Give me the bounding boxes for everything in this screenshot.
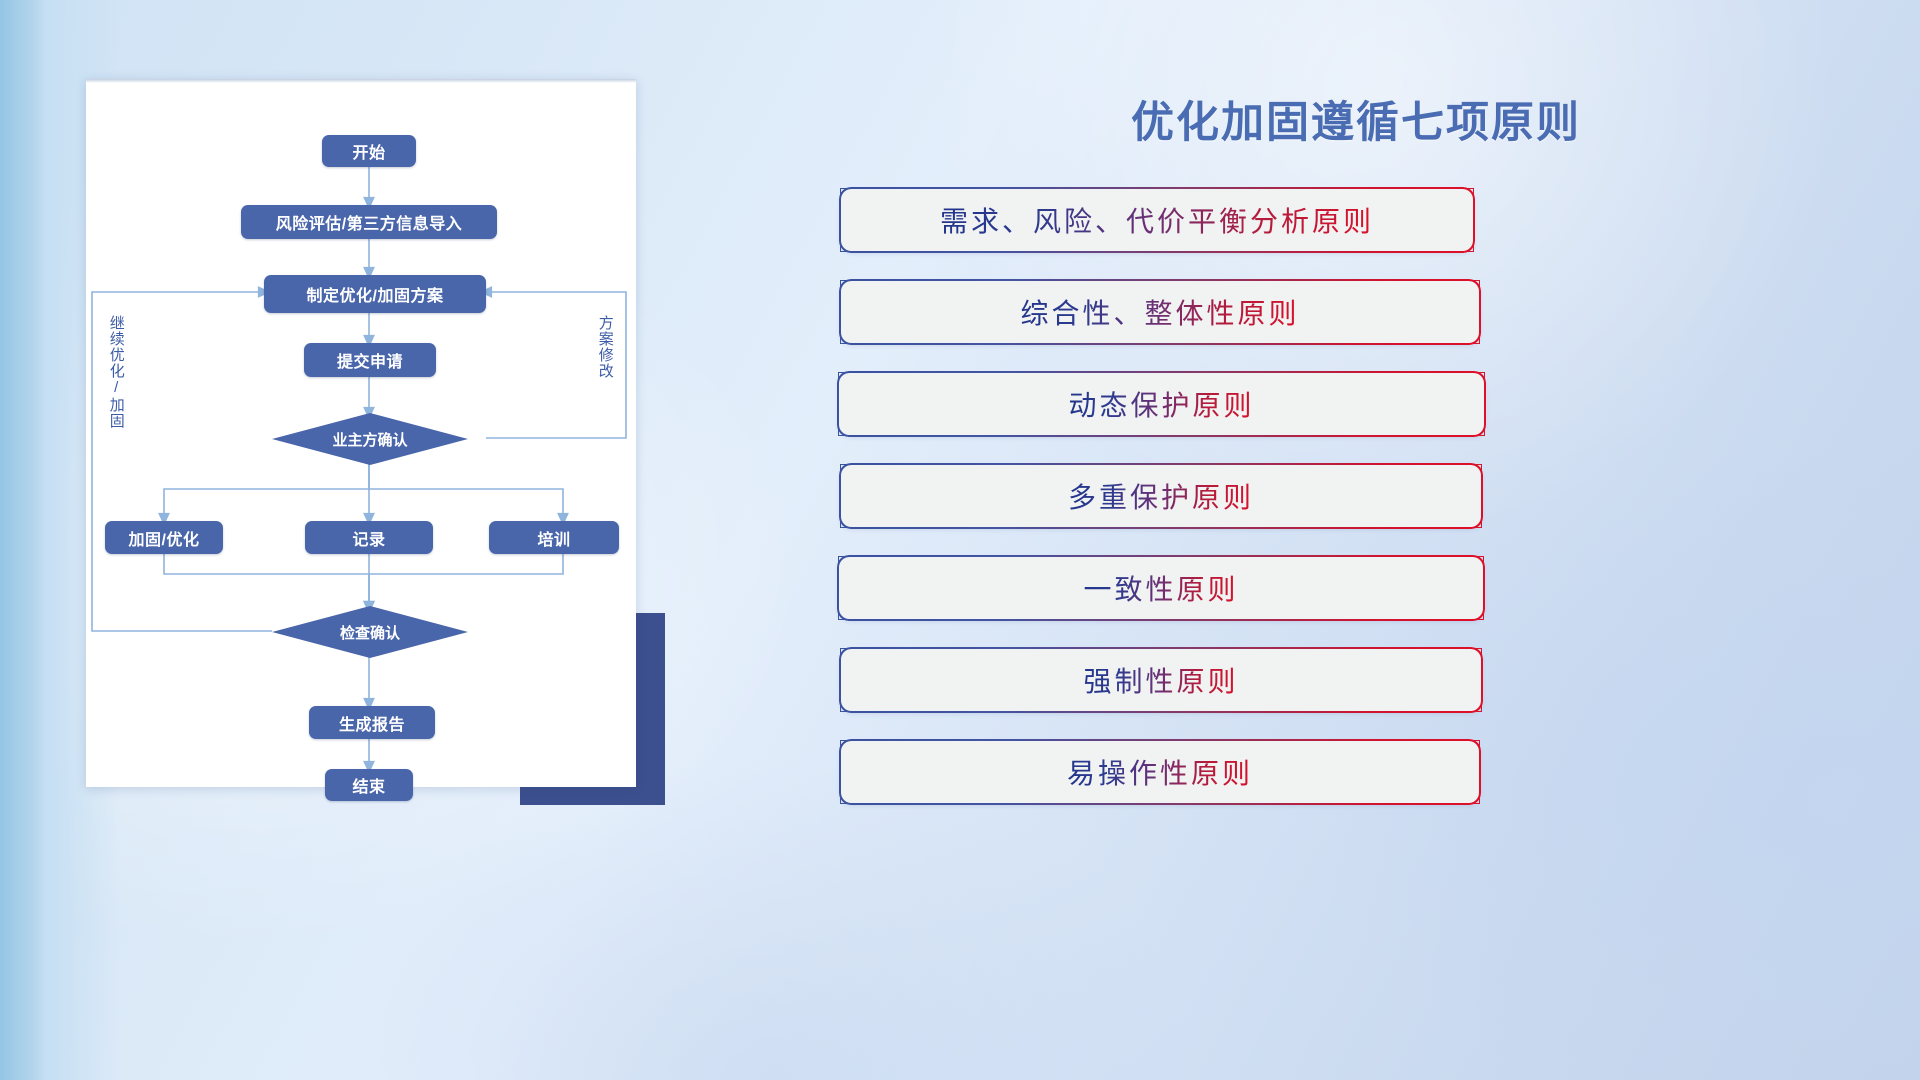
page-title: 优化加固遵循七项原则 <box>836 88 1876 150</box>
flow-node-label: 开始 <box>352 139 385 163</box>
principle-label: 综合性、整体性原则 <box>1020 292 1299 332</box>
flow-node-submit-application[interactable]: 提交申请 <box>304 343 436 377</box>
principle-label: 强制性原则 <box>1083 660 1238 700</box>
flow-node-label: 制定优化/加固方案 <box>307 282 444 306</box>
principle-item-6[interactable]: 强制性原则 <box>840 648 1482 712</box>
edge-label-plan-revision: 方案修改 <box>597 315 613 379</box>
flowchart: 开始 风险评估/第三方信息导入 制定优化/加固方案 提交申请 业主方确认 加固/… <box>86 79 636 787</box>
principle-label: 一致性原则 <box>1083 568 1238 608</box>
principle-item-5[interactable]: 一致性原则 <box>838 556 1484 620</box>
principle-label: 动态保护原则 <box>1068 384 1254 424</box>
flow-node-generate-report[interactable]: 生成报告 <box>309 706 435 739</box>
flow-node-make-plan[interactable]: 制定优化/加固方案 <box>264 275 486 313</box>
slide-background: 开始 风险评估/第三方信息导入 制定优化/加固方案 提交申请 业主方确认 加固/… <box>0 0 1920 1080</box>
principle-item-1[interactable]: 需求、风险、代价平衡分析原则 <box>840 188 1474 252</box>
flow-node-end[interactable]: 结束 <box>325 769 413 801</box>
flow-node-record[interactable]: 记录 <box>305 521 433 554</box>
principle-label: 需求、风险、代价平衡分析原则 <box>940 200 1374 240</box>
flow-node-label: 业主方确认 <box>332 429 407 450</box>
flowchart-card: 开始 风险评估/第三方信息导入 制定优化/加固方案 提交申请 业主方确认 加固/… <box>86 79 636 787</box>
principle-item-4[interactable]: 多重保护原则 <box>840 464 1482 528</box>
flow-node-label: 结束 <box>352 773 385 797</box>
flow-node-label: 检查确认 <box>340 622 400 643</box>
flow-node-label: 生成报告 <box>339 711 405 735</box>
principle-item-7[interactable]: 易操作性原则 <box>840 740 1480 804</box>
flow-node-training[interactable]: 培训 <box>489 521 619 554</box>
principles-list: 需求、风险、代价平衡分析原则 综合性、整体性原则 动态保护原则 多重保护原则 一… <box>836 188 1876 832</box>
flow-node-label: 风险评估/第三方信息导入 <box>276 210 462 234</box>
flow-node-label: 提交申请 <box>337 348 403 372</box>
flow-node-risk-assessment[interactable]: 风险评估/第三方信息导入 <box>241 205 497 239</box>
principle-label: 易操作性原则 <box>1067 752 1253 792</box>
principles-panel: 优化加固遵循七项原则 需求、风险、代价平衡分析原则 综合性、整体性原则 动态保护… <box>836 0 1876 1080</box>
flow-node-label: 加固/优化 <box>129 526 200 550</box>
flow-node-reinforce-optimize[interactable]: 加固/优化 <box>105 521 223 554</box>
flow-node-label: 记录 <box>352 526 385 550</box>
principle-label: 多重保护原则 <box>1068 476 1254 516</box>
principle-item-2[interactable]: 综合性、整体性原则 <box>840 280 1480 344</box>
flow-node-start[interactable]: 开始 <box>322 135 416 167</box>
flow-node-label: 培训 <box>537 526 570 550</box>
edge-label-continue-optimize: 继续优化/加固 <box>108 315 124 429</box>
principle-item-3[interactable]: 动态保护原则 <box>838 372 1485 436</box>
